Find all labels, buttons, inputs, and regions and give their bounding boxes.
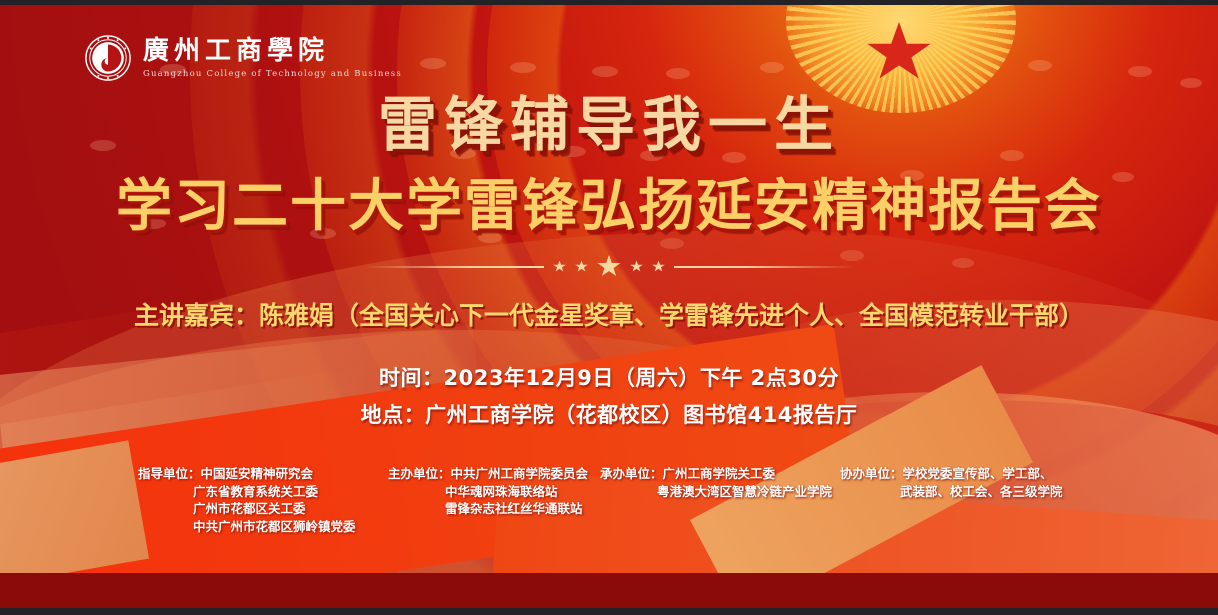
- school-name-en: Guangzhou College of Technology and Busi…: [143, 69, 402, 79]
- organiser-first-line: 协办单位：学校党委宣传部、学工部、: [840, 465, 1080, 483]
- organiser-line: 粤港澳大湾区智慧冷链产业学院: [600, 483, 840, 501]
- organiser-first-line: 主办单位：中共广州工商学院委员会: [388, 465, 600, 483]
- organiser-line: 中共广州市花都区狮岭镇党委: [138, 518, 388, 536]
- divider-line-left: [364, 266, 544, 268]
- organiser-line: 学校党委宣传部、学工部、: [903, 466, 1053, 481]
- organiser-column-undertaker: 承办单位：广州工商学院关工委 粤港澳大湾区智慧冷链产业学院: [600, 465, 840, 500]
- organiser-column-cohost: 协办单位：学校党委宣传部、学工部、 武装部、校工会、各三级学院: [840, 465, 1080, 500]
- organiser-line: 广东省教育系统关工委: [138, 483, 388, 501]
- organiser-line: 武装部、校工会、各三级学院: [840, 483, 1080, 501]
- poster-subtitle: 学习二十大学雷锋弘扬延安精神报告会: [0, 178, 1218, 237]
- divider-star-large: [597, 255, 621, 278]
- organiser-line: 中华魂网珠海联络站: [388, 483, 600, 501]
- event-place: 地点：广州工商学院（花都校区）图书馆414报告厅: [0, 397, 1218, 434]
- school-logo: 廣州工商學院 Guangzhou College of Technology a…: [84, 34, 402, 82]
- organiser-line: 中共广州工商学院委员会: [451, 466, 589, 481]
- organiser-column-guidance: 指导单位：中国延安精神研究会 广东省教育系统关工委 广州市花都区关工委 中共广州…: [138, 465, 388, 535]
- five-star-divider-icon: [0, 255, 1218, 278]
- poster-main-title: 雷锋辅导我一生: [0, 94, 1218, 156]
- top-trim: [0, 0, 1218, 5]
- organiser-label: 指导单位：: [138, 466, 201, 481]
- organiser-line: 广州市花都区关工委: [138, 500, 388, 518]
- speaker-line: 主讲嘉宾：陈雅娟（全国关心下一代金星奖章、学雷锋先进个人、全国模范转业干部）: [0, 296, 1218, 332]
- organiser-first-line: 指导单位：中国延安精神研究会: [138, 465, 388, 483]
- event-meta: 时间：2023年12月9日（周六）下午 2点30分 地点：广州工商学院（花都校区…: [0, 360, 1218, 434]
- organiser-line: 中国延安精神研究会: [201, 466, 314, 481]
- organiser-label: 承办单位：: [600, 466, 663, 481]
- poster-canvas: 廣州工商學院 Guangzhou College of Technology a…: [0, 0, 1218, 615]
- organiser-label: 协办单位：: [840, 466, 903, 481]
- organiser-first-line: 承办单位：广州工商学院关工委: [600, 465, 840, 483]
- organiser-line: 广州工商学院关工委: [663, 466, 776, 481]
- event-time: 时间：2023年12月9日（周六）下午 2点30分: [0, 360, 1218, 397]
- divider-star-small: [553, 261, 566, 273]
- circular-swirl-emblem-icon: [84, 34, 132, 82]
- bottom-trim: [0, 608, 1218, 615]
- organiser-line: 雷锋杂志社红丝华通联站: [388, 500, 600, 518]
- organiser-column-host: 主办单位：中共广州工商学院委员会 中华魂网珠海联络站 雷锋杂志社红丝华通联站: [388, 465, 600, 518]
- organiser-list: 指导单位：中国延安精神研究会 广东省教育系统关工委 广州市花都区关工委 中共广州…: [0, 465, 1218, 535]
- divider-star-small: [630, 261, 643, 273]
- organiser-label: 主办单位：: [388, 466, 451, 481]
- bottom-dark-band: [0, 573, 1218, 608]
- divider-star-small: [575, 261, 588, 273]
- divider-star-small: [652, 261, 665, 273]
- divider-line-right: [674, 266, 854, 268]
- school-name-cn: 廣州工商學院: [143, 37, 402, 66]
